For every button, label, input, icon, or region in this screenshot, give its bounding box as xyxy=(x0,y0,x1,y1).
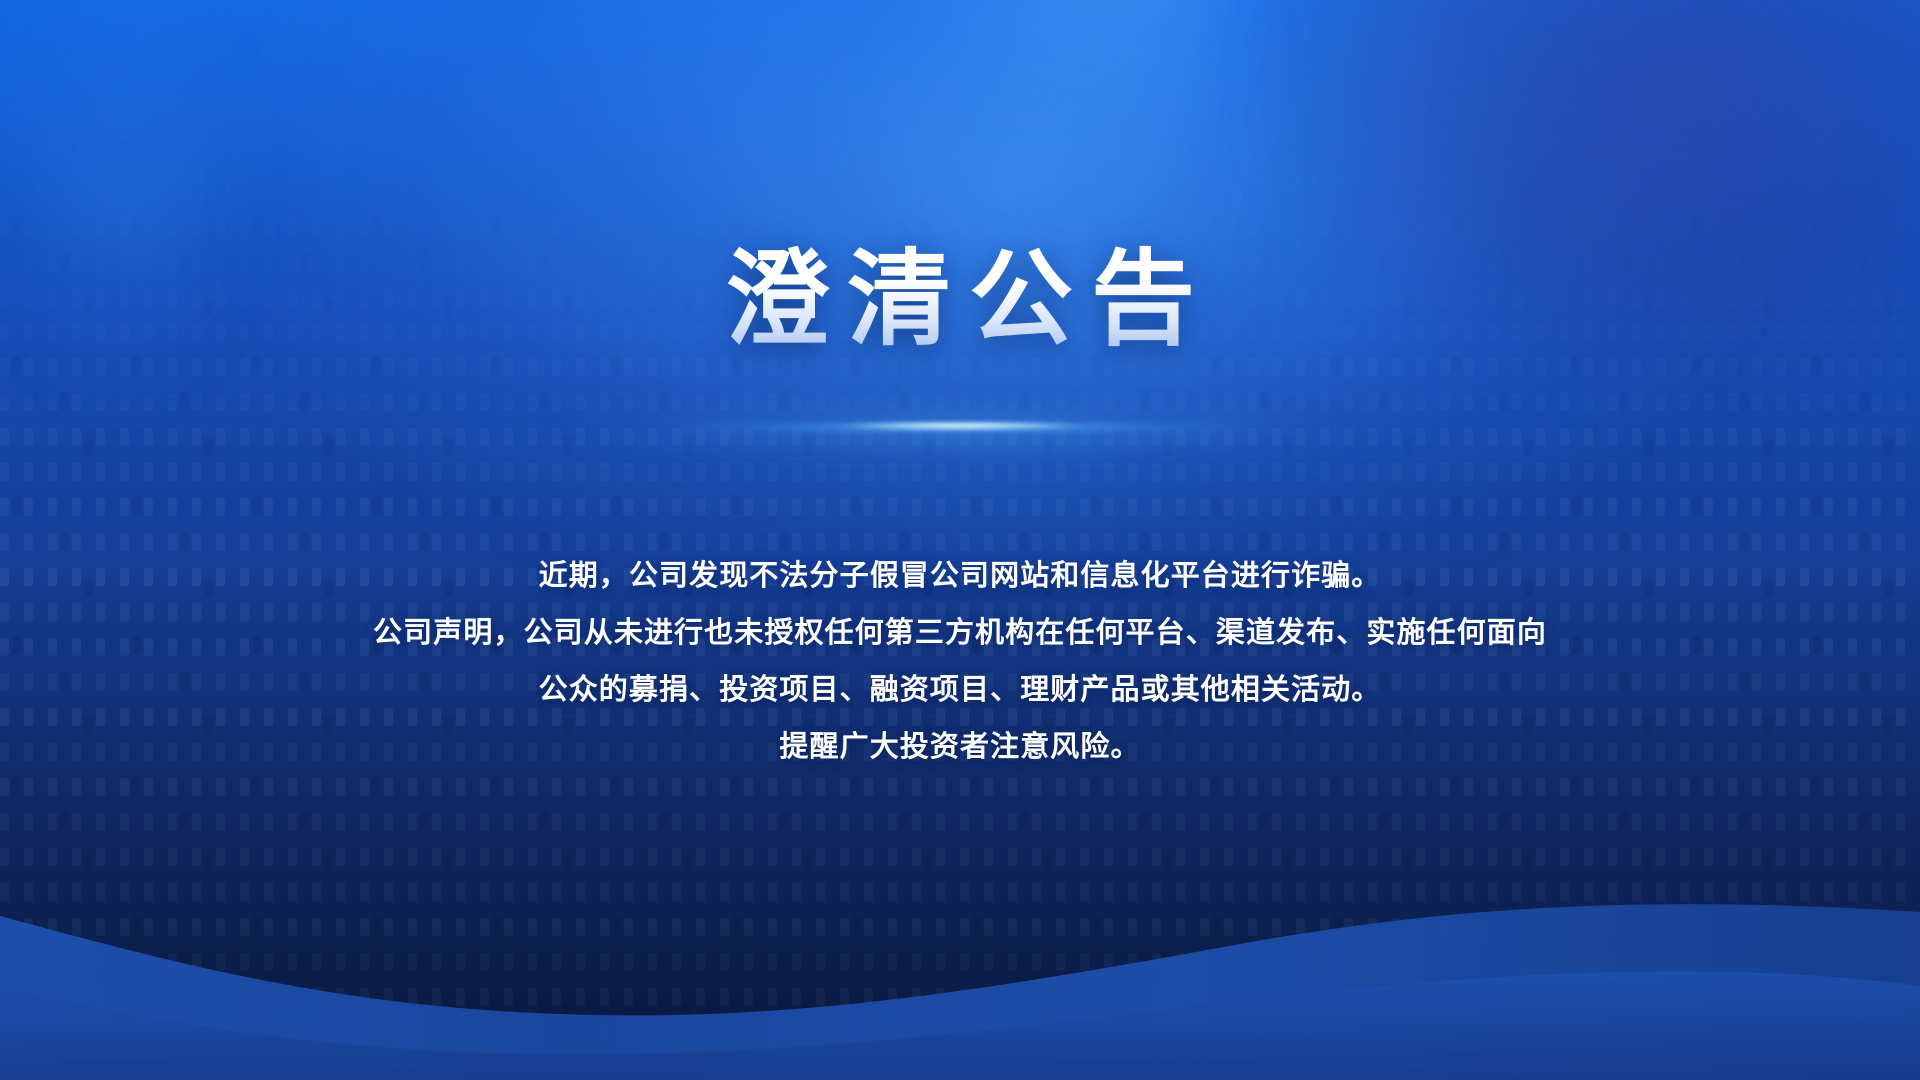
page-title-container: 澄清公告 xyxy=(0,242,1920,358)
announcement-body: 近期，公司发现不法分子假冒公司网站和信息化平台进行诈骗。 公司声明，公司从未进行… xyxy=(0,548,1920,776)
announcement-poster: 澄清公告 近期，公司发现不法分子假冒公司网站和信息化平台进行诈骗。 公司声明，公… xyxy=(0,0,1920,1080)
announcement-line: 公司声明，公司从未进行也未授权任何第三方机构在任何平台、渠道发布、实施任何面向 xyxy=(0,605,1920,662)
title-flare-core xyxy=(835,422,1085,429)
bottom-wave-icon xyxy=(0,890,1920,1080)
announcement-line: 提醒广大投资者注意风险。 xyxy=(0,719,1920,776)
announcement-line: 公众的募捐、投资项目、融资项目、理财产品或其他相关活动。 xyxy=(0,662,1920,719)
page-title: 澄清公告 xyxy=(707,242,1213,358)
announcement-line: 近期，公司发现不法分子假冒公司网站和信息化平台进行诈骗。 xyxy=(0,548,1920,605)
